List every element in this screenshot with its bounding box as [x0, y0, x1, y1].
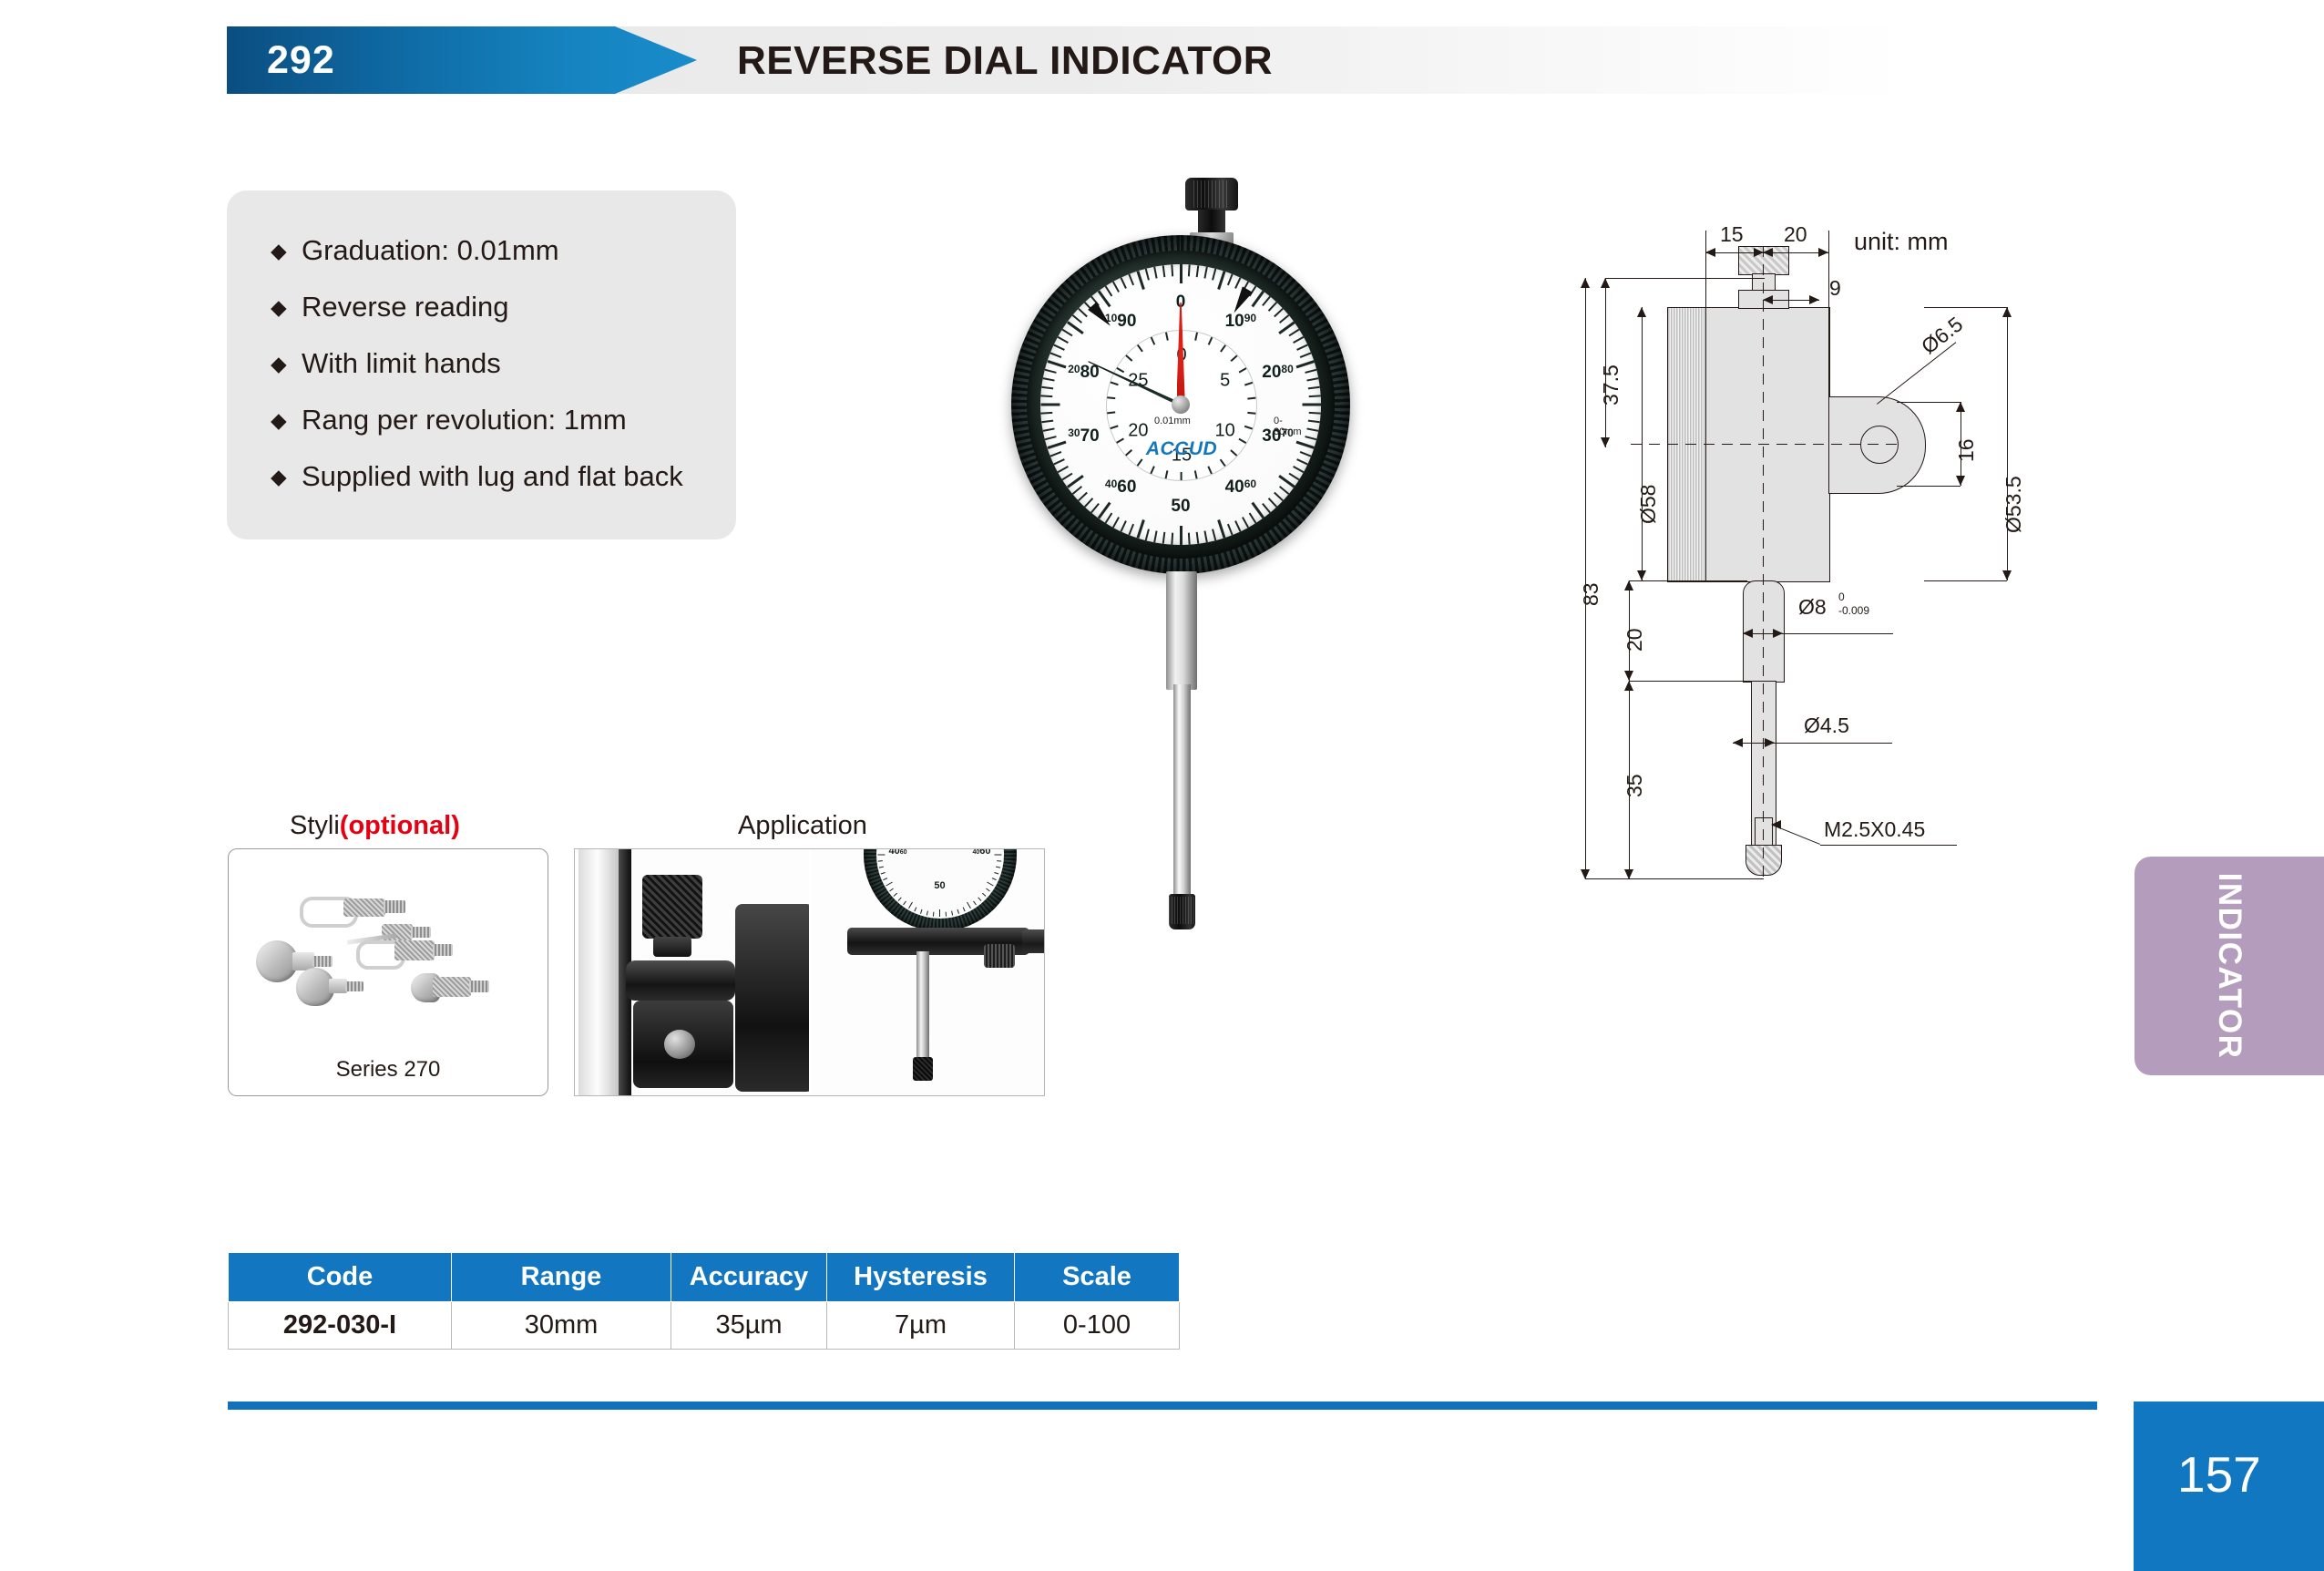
arrow [1771, 820, 1781, 829]
tick-mark [1145, 269, 1150, 281]
arrow [1581, 869, 1590, 879]
horizontal-centerline [1631, 444, 1904, 445]
dim-line-83 [1585, 278, 1586, 879]
tick-mark [1234, 277, 1241, 289]
feature-text: Graduation: 0.01mm [302, 234, 559, 266]
tick-mark [1049, 451, 1061, 457]
arrow [1763, 295, 1773, 304]
tick-mark [1105, 513, 1113, 524]
section-side-tab: INDICATOR [2135, 857, 2324, 1075]
tick-mark [1296, 458, 1308, 465]
tick-mark [1262, 296, 1271, 306]
tick-mark [1090, 503, 1100, 513]
cell-accuracy: 35µm [671, 1302, 827, 1350]
inner-tick-mark [1117, 438, 1125, 444]
mini-tick-mark [986, 888, 990, 892]
mini-tick-mark [914, 907, 916, 911]
application-photo-right: 154060406050 [809, 849, 1045, 1095]
arrow [2002, 307, 2012, 317]
inner-tick-mark [1117, 367, 1125, 373]
tolerance-upper: 0 [1838, 591, 1845, 603]
tick-mark [1279, 314, 1289, 323]
dim-stem-20: 20 [1623, 628, 1647, 652]
tick-mark [1072, 314, 1082, 323]
inner-tick-mark [1248, 397, 1256, 400]
inner-tick-mark [1231, 449, 1238, 456]
plunger-rod [1173, 684, 1191, 898]
tick-mark [1121, 277, 1127, 289]
mini-tick-mark [951, 911, 953, 916]
page-number: 157 [2177, 1445, 2261, 1504]
outer-scale-number: 3070 [1068, 426, 1100, 447]
contact-point-tip [1169, 894, 1195, 929]
tick-mark [1053, 344, 1065, 351]
arrow [1705, 248, 1715, 257]
dim-thread: M2.5X0.45 [1824, 817, 1925, 842]
arrow [1637, 307, 1646, 317]
tick-mark [1047, 441, 1066, 449]
inner-tick-mark [1239, 438, 1247, 444]
stylus-thread [345, 981, 363, 991]
mini-tick-mark [878, 855, 886, 856]
tick-mark [1295, 360, 1315, 368]
tick-mark [1305, 369, 1316, 374]
mini-tick-mark [883, 878, 887, 880]
dim-83: 83 [1579, 582, 1603, 606]
tick-mark [1227, 524, 1234, 536]
application-photo-left [575, 849, 809, 1095]
ext-line [1705, 231, 1706, 311]
mini-tick-mark [963, 907, 966, 911]
tick-mark [1084, 498, 1093, 508]
tick-mark [1309, 395, 1321, 397]
table-header-row: Code Range Accuracy Hysteresis Scale [229, 1253, 1180, 1302]
ext-line [1605, 278, 1765, 279]
inner-tick-mark [1107, 397, 1115, 400]
dim-20: 20 [1784, 222, 1807, 247]
holder-arm [1022, 929, 1045, 953]
arrow [1743, 629, 1753, 638]
side-tab-label: INDICATOR [2211, 873, 2247, 1060]
tick-mark [1058, 336, 1069, 344]
tick-mark [1279, 486, 1289, 495]
dim-4-5: Ø4.5 [1804, 714, 1849, 738]
stand-arm [626, 960, 735, 1001]
arrow [1818, 248, 1828, 257]
column-header-scale: Scale [1015, 1253, 1180, 1302]
arrow [1601, 278, 1610, 288]
inner-tick-mark [1151, 337, 1155, 345]
lock-screw [664, 1030, 695, 1059]
tick-mark [1180, 526, 1182, 545]
outer-scale-number: 1090 [1225, 312, 1257, 332]
tick-mark [1300, 451, 1312, 457]
arrow [1624, 580, 1633, 590]
mini-tick-mark [982, 893, 986, 897]
stylus-knurl [433, 977, 471, 997]
cell-scale: 0-100 [1015, 1302, 1180, 1350]
mini-tick-mark [957, 909, 958, 914]
page-number-block: 157 [2134, 1402, 2324, 1571]
outer-scale-number: 50 [1171, 497, 1190, 517]
tick-mark [1302, 404, 1321, 406]
mini-tick-mark [898, 897, 902, 900]
ext-line [1629, 580, 1747, 581]
arrow [1809, 295, 1819, 304]
specification-table: Code Range Accuracy Hysteresis Scale 292… [228, 1252, 1180, 1350]
tick-mark [1043, 427, 1055, 431]
tick-mark [1217, 271, 1225, 290]
inner-tick-mark [1239, 367, 1247, 373]
application-photo-box: 154060406050 [574, 848, 1045, 1096]
tick-mark [1308, 420, 1320, 424]
inner-tick-mark [1126, 355, 1133, 362]
tick-mark [1196, 265, 1200, 277]
tick-mark [1295, 441, 1315, 449]
tick-mark [1308, 386, 1320, 390]
tick-mark [1268, 302, 1277, 312]
tick-mark [1249, 513, 1257, 524]
tick-mark [1217, 519, 1225, 539]
arrow [1624, 671, 1633, 681]
inner-tick-mark [1231, 355, 1238, 362]
styli-optional-label: (optional) [340, 811, 460, 840]
tick-mark [1136, 519, 1144, 539]
tick-mark [1043, 377, 1055, 381]
arrow [1763, 248, 1773, 257]
tick-mark [1040, 404, 1060, 406]
stylus-thread [469, 981, 489, 992]
inner-tick-mark [1220, 459, 1226, 467]
diamond-bullet-icon: ◆ [271, 408, 302, 433]
tick-mark [1203, 267, 1207, 279]
gauge-contact-tip [913, 1057, 933, 1081]
footer-rule [228, 1402, 2097, 1410]
arrow [1637, 570, 1646, 580]
mini-tick-mark [987, 882, 993, 887]
tick-mark [1274, 308, 1284, 317]
leader-line-6-5 [1877, 342, 1957, 405]
styli-caption: Series 270 [229, 1057, 548, 1083]
mini-dial-face: 154060406050 [876, 849, 1004, 919]
stylus-thread [384, 900, 405, 913]
mini-tick-mark [994, 872, 998, 874]
tick-mark [1040, 412, 1052, 415]
tick-mark [1078, 308, 1088, 317]
dim-15: 15 [1720, 222, 1744, 247]
tick-mark [1105, 285, 1113, 296]
ext-line [1897, 402, 1961, 403]
arrow [1624, 681, 1633, 691]
dim-line-53-5 [2007, 307, 2008, 580]
dial-bezel: 01090208030704060504060307020801090 0510… [1011, 235, 1350, 574]
inner-tick-mark [1194, 470, 1197, 478]
dim-37-5: 37.5 [1599, 365, 1623, 406]
diamond-bullet-icon: ◆ [271, 239, 302, 263]
inner-tick-mark [1111, 426, 1119, 429]
mini-tick-mark [889, 888, 894, 892]
stylus-knurl [394, 940, 435, 960]
inner-tick-mark [1165, 333, 1168, 341]
tick-mark [1153, 267, 1157, 279]
arrow [1624, 869, 1633, 879]
clamp-neck [653, 937, 691, 957]
ext-line [1828, 231, 1829, 399]
tick-mark [1078, 492, 1088, 501]
column-header-range: Range [452, 1253, 671, 1302]
mini-tick-mark [973, 901, 977, 906]
tick-mark [1289, 473, 1300, 481]
mini-tick-mark [886, 882, 892, 887]
diamond-bullet-icon: ◆ [271, 352, 302, 376]
tolerance-lower: -0.009 [1838, 605, 1869, 617]
ext-line [1924, 307, 2007, 308]
column-header-hysteresis: Hysteresis [827, 1253, 1015, 1302]
tick-mark [1196, 532, 1200, 544]
page-header: 292 REVERSE DIAL INDICATOR [227, 26, 2324, 94]
dim-16: 16 [1954, 438, 1979, 462]
inner-tick-mark [1220, 344, 1226, 352]
tick-mark [1112, 282, 1120, 293]
mini-tick-mark [927, 911, 928, 916]
gauge-plunger [916, 951, 929, 1061]
tick-mark [1041, 420, 1053, 424]
mini-tick-mark [933, 912, 935, 917]
styli-section-title: Styli(optional) [290, 811, 460, 841]
page-title: REVERSE DIAL INDICATOR [737, 26, 1273, 94]
mini-tick-mark [903, 901, 906, 906]
feature-text: Reverse reading [302, 291, 508, 323]
mini-tick-mark [908, 902, 913, 909]
tick-mark [1162, 265, 1166, 277]
tick-mark [1072, 486, 1082, 495]
tick-mark [1112, 517, 1120, 528]
mini-tick-mark [967, 902, 971, 909]
range-label: 0-30mm [1274, 416, 1302, 437]
tick-mark [1293, 336, 1304, 344]
dim-58: Ø58 [1636, 485, 1661, 524]
tick-mark [1061, 329, 1072, 337]
tick-mark [1188, 533, 1191, 545]
tick-mark [1227, 273, 1234, 285]
inner-scale-number: 5 [1220, 370, 1230, 391]
stylus-shank [329, 979, 347, 993]
cell-range: 30mm [452, 1302, 671, 1350]
diamond-bullet-icon: ◆ [271, 295, 302, 320]
tick-mark [1049, 352, 1061, 358]
tick-mark [1041, 386, 1053, 390]
ext-line [1820, 845, 1957, 846]
outer-scale-number: 2080 [1068, 363, 1100, 383]
feature-item: ◆Graduation: 0.01mm [271, 234, 559, 267]
inner-tick-mark [1181, 472, 1182, 480]
tick-mark [1242, 517, 1249, 528]
stylus-knurl [343, 898, 385, 917]
tick-mark [1305, 436, 1316, 440]
mini-scale-number: 4060 [972, 849, 990, 857]
tick-mark [1203, 530, 1207, 542]
mini-tick-mark [920, 909, 922, 914]
table-row: 292-030-I 30mm 35µm 7µm 0-100 [229, 1302, 1180, 1350]
tick-mark [1047, 360, 1066, 368]
tick-mark [1128, 524, 1134, 536]
arrow [1733, 738, 1743, 747]
inner-scale-number: 10 [1215, 420, 1235, 441]
dim-line-58 [1642, 307, 1643, 580]
inner-tick-mark [1244, 382, 1253, 385]
technical-dimension-drawing: 15 20 9 37.5 Ø58 Ø6.5 16 Ø53.5 83 20 35 [1576, 223, 2086, 898]
ext-line [1629, 681, 1752, 682]
feature-list-box: ◆Graduation: 0.01mm ◆Reverse reading ◆Wi… [227, 190, 736, 539]
dim-line-37-5 [1605, 278, 1606, 447]
tick-mark [1045, 369, 1057, 374]
tick-mark [1171, 264, 1173, 276]
series-number: 292 [267, 26, 335, 94]
graduation-label: 0.01mm [1154, 416, 1191, 426]
mini-tick-mark [894, 893, 897, 897]
ext-line [1585, 878, 1764, 879]
inner-tick-mark [1208, 337, 1213, 345]
mini-tick-mark [978, 897, 981, 900]
arrow [2002, 570, 2012, 580]
tick-mark [1180, 264, 1182, 283]
inner-tick-mark [1137, 344, 1143, 352]
mini-tick-mark [878, 860, 883, 862]
arrow [1773, 629, 1783, 638]
stylus-thread [411, 927, 431, 938]
tick-mark [1061, 473, 1072, 481]
tick-mark [1136, 271, 1144, 290]
cell-code: 292-030-I [229, 1302, 452, 1350]
arrow [1956, 402, 1965, 412]
tick-mark [1274, 492, 1284, 501]
inner-tick-mark [1208, 466, 1213, 474]
tick-mark [1268, 498, 1277, 508]
mini-scale-number: 50 [934, 880, 945, 891]
tick-mark [1309, 412, 1321, 415]
tick-mark [1045, 436, 1057, 440]
cell-hysteresis: 7µm [827, 1302, 1015, 1350]
arrow [1601, 437, 1610, 447]
holder-screw [984, 944, 1015, 968]
inner-tick-mark [1244, 426, 1253, 429]
dim-stem-35: 35 [1623, 774, 1647, 797]
tick-mark [1188, 264, 1191, 276]
ext-line [1924, 580, 2007, 581]
feature-item: ◆Supplied with lug and flat back [271, 460, 683, 493]
inner-tick-mark [1151, 466, 1155, 474]
tick-mark [1128, 273, 1134, 285]
dim-line-8 [1743, 633, 1893, 634]
dial-face: 01090208030704060504060307020801090 0510… [1040, 264, 1321, 545]
mini-tick-mark [946, 912, 947, 917]
column-header-code: Code [229, 1253, 452, 1302]
mini-tick-mark [879, 867, 884, 868]
knurled-cap [1185, 178, 1238, 210]
tick-mark [1171, 533, 1173, 545]
arrow [1765, 738, 1775, 747]
product-photo-dial-indicator: 01090208030704060504060307020801090 0510… [1011, 178, 1394, 957]
outer-scale-number: 2080 [1262, 363, 1294, 383]
accud-brand-logo: ACCUD [1146, 438, 1217, 460]
tick-mark [1293, 466, 1304, 473]
mini-scale-number: 4060 [888, 849, 906, 857]
inner-tick-mark [1107, 412, 1115, 415]
column-header-accuracy: Accuracy [671, 1253, 827, 1302]
outer-scale-number: 1090 [1105, 312, 1137, 332]
tick-mark [1040, 395, 1052, 397]
tick-mark [1289, 329, 1300, 337]
mini-tick-mark [995, 855, 1002, 856]
mini-tick-mark [996, 867, 1000, 868]
inner-tick-mark [1165, 470, 1168, 478]
feature-text: Supplied with lug and flat back [302, 460, 683, 492]
mounted-dial-gauge: 154060406050 [864, 849, 1017, 931]
inner-tick-mark [1126, 449, 1133, 456]
stylus-thread [312, 956, 333, 967]
pointer-hub [1172, 395, 1190, 414]
feature-text: With limit hands [302, 347, 501, 379]
styli-photo-box: Series 270 [228, 848, 548, 1096]
stem-sleeve [1166, 571, 1197, 690]
dim-53-5: Ø53.5 [2002, 476, 2026, 533]
tick-mark [1058, 466, 1069, 473]
tick-mark [1162, 532, 1166, 544]
feature-item: ◆Rang per revolution: 1mm [271, 404, 627, 436]
tick-mark [1262, 503, 1271, 513]
inner-tick-mark [1248, 412, 1256, 415]
feature-item: ◆Reverse reading [271, 291, 508, 323]
tick-mark [1300, 352, 1312, 358]
tick-mark [1306, 427, 1318, 431]
arrow [1581, 278, 1590, 288]
inner-tick-mark [1194, 333, 1197, 341]
mini-tick-mark [881, 872, 886, 874]
tick-mark [1145, 529, 1150, 540]
tick-mark [1296, 344, 1308, 351]
dim-line-4-5 [1733, 743, 1892, 744]
mini-tick-mark [997, 860, 1001, 862]
feature-text: Rang per revolution: 1mm [302, 404, 627, 436]
clamp-knob [642, 875, 702, 939]
mini-tick-mark [992, 878, 997, 880]
application-section-title: Application [738, 811, 867, 841]
tick-mark [1212, 269, 1216, 281]
feature-item: ◆With limit hands [271, 347, 501, 380]
mini-tick-mark [939, 909, 940, 917]
tick-mark [1212, 529, 1216, 540]
tick-mark [1306, 377, 1318, 381]
inner-tick-mark [1111, 382, 1119, 385]
vertical-centerline [1763, 246, 1764, 884]
inner-tick-mark [1137, 459, 1143, 467]
diamond-bullet-icon: ◆ [271, 465, 302, 489]
tick-mark [1153, 530, 1157, 542]
arrow [1956, 476, 1965, 486]
dim-9: 9 [1829, 276, 1841, 301]
stand-block [735, 904, 809, 1092]
ext-line [1897, 486, 1961, 487]
dim-8: Ø8 [1798, 595, 1827, 620]
tick-mark [1121, 520, 1127, 532]
styli-label: Styli [290, 811, 340, 840]
tick-mark [1234, 520, 1241, 532]
stylus-thread [433, 944, 453, 956]
tick-mark [1053, 458, 1065, 465]
